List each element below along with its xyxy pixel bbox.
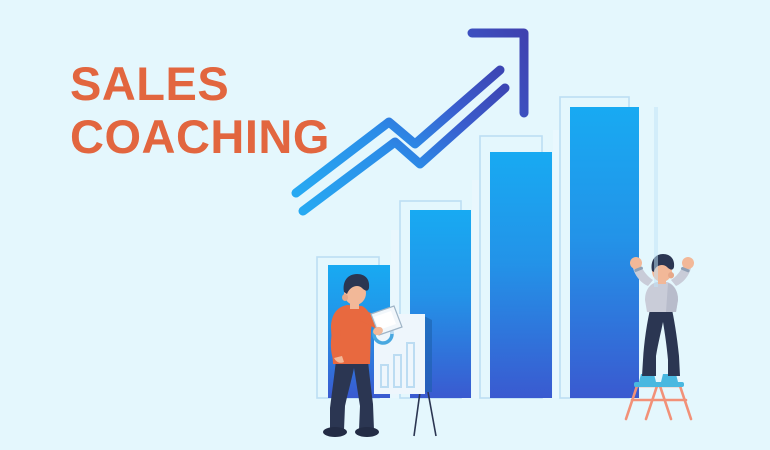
banner-illustration — [0, 0, 770, 450]
bar-4 — [570, 107, 639, 398]
strip-3 — [553, 130, 559, 398]
flipchart-shadow — [424, 316, 432, 392]
ladder-platform — [634, 382, 684, 387]
bar-3 — [490, 152, 552, 398]
strip-2 — [472, 180, 479, 398]
bar4-light-line — [654, 107, 658, 287]
worker-fist-right — [682, 257, 694, 269]
worker-ear — [668, 272, 674, 278]
sales-coaching-banner: Sales Coaching — [0, 0, 770, 450]
presenter-shoe-right — [355, 427, 379, 437]
presenter-ear — [342, 294, 348, 301]
presenter-shoe-left — [323, 427, 347, 437]
